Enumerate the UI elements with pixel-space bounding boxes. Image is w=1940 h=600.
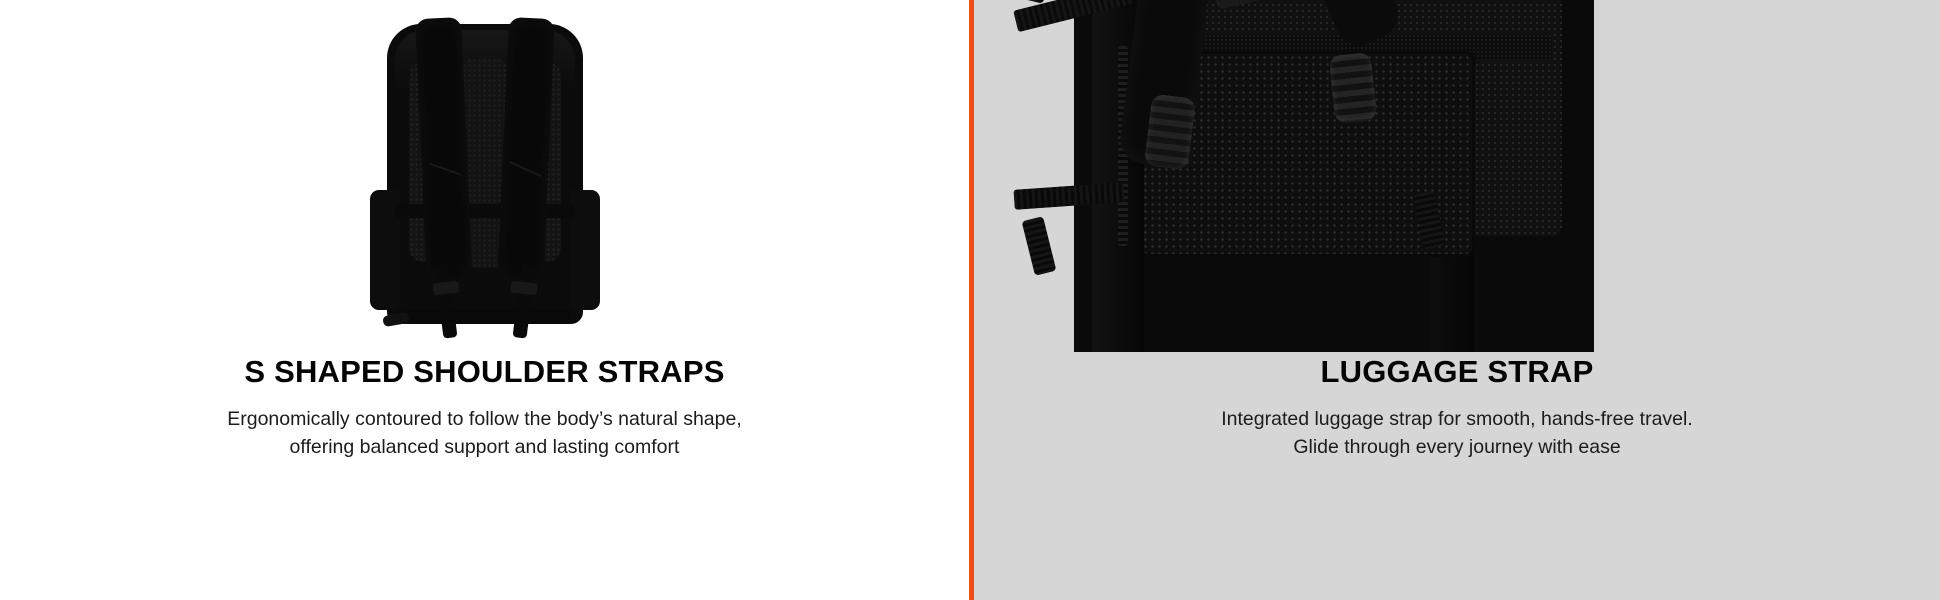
feature-description: Integrated luggage strap for smooth, han… — [1137, 405, 1777, 462]
feature-headline: LUGGAGE STRAP — [974, 356, 1940, 389]
strap-adjuster-slider-secondary — [1329, 52, 1378, 124]
webbing-pull-bottom — [1022, 216, 1057, 276]
lumbar-support-bar — [395, 204, 575, 218]
backpack-illustration — [365, 14, 605, 334]
feature-panel-s-shaped-shoulder-straps: S SHAPED SHOULDER STRAPS Ergonomically c… — [0, 0, 969, 600]
feature-description-line-2: Glide through every journey with ease — [1137, 433, 1777, 461]
backpack-closeup-illustration — [1014, 0, 1614, 352]
feature-caption-left: S SHAPED SHOULDER STRAPS Ergonomically c… — [0, 356, 969, 461]
feature-description-line-1: Integrated luggage strap for smooth, han… — [1137, 405, 1777, 433]
feature-description-line-1: Ergonomically contoured to follow the bo… — [165, 405, 805, 433]
luggage-strap-closeup-image — [974, 0, 1940, 352]
feature-caption-right: LUGGAGE STRAP Integrated luggage strap f… — [974, 356, 1940, 461]
feature-headline: S SHAPED SHOULDER STRAPS — [0, 356, 969, 389]
waist-strap — [401, 310, 571, 323]
product-feature-banner: S SHAPED SHOULDER STRAPS Ergonomically c… — [0, 0, 1940, 600]
backpack-back-view-image — [0, 0, 969, 352]
strap-adjuster-slider — [1144, 94, 1196, 171]
feature-description-line-2: offering balanced support and lasting co… — [165, 433, 805, 461]
feature-panel-luggage-strap: LUGGAGE STRAP Integrated luggage strap f… — [974, 0, 1940, 600]
feature-description: Ergonomically contoured to follow the bo… — [165, 405, 805, 462]
